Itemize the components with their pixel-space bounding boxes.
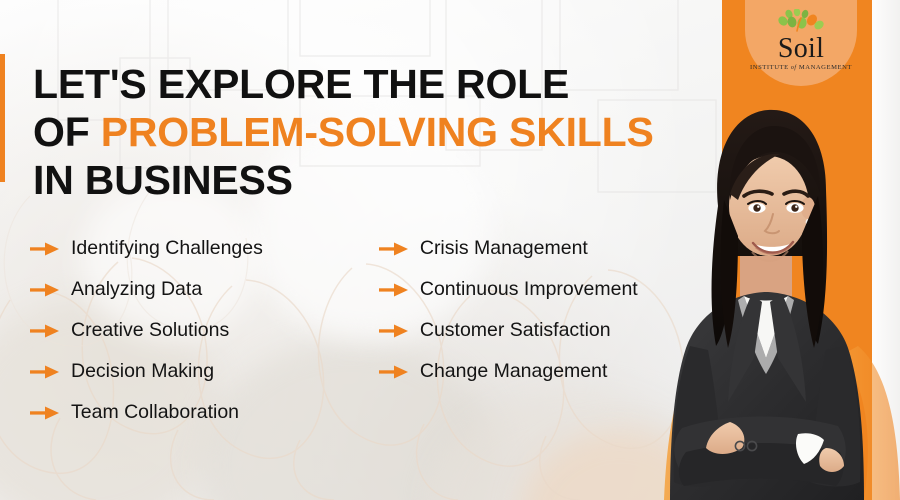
logo-tagline: INSTITUTE of MANAGEMENT <box>750 63 852 73</box>
arrow-right-icon <box>379 242 408 256</box>
list-item-label: Decision Making <box>71 361 214 382</box>
benefits-list: Identifying Challenges Analyzing Data Cr… <box>30 228 690 433</box>
list-item: Identifying Challenges <box>30 228 351 269</box>
left-accent-bar <box>0 54 5 182</box>
arrow-right-icon <box>30 406 59 420</box>
headline-line-2-prefix: OF <box>33 109 101 155</box>
list-item: Team Collaboration <box>30 392 351 433</box>
arrow-right-icon <box>30 365 59 379</box>
benefits-column-left: Identifying Challenges Analyzing Data Cr… <box>30 228 351 433</box>
list-item-label: Team Collaboration <box>71 402 239 423</box>
presenter-photo <box>612 96 900 500</box>
page-title: LET'S EXPLORE THE ROLE OF PROBLEM-SOLVIN… <box>33 60 693 204</box>
arrow-right-icon <box>30 324 59 338</box>
arrow-right-icon <box>30 242 59 256</box>
promo-banner: LET'S EXPLORE THE ROLE OF PROBLEM-SOLVIN… <box>0 0 900 500</box>
headline-line-3: IN BUSINESS <box>33 156 693 204</box>
list-item-label: Creative Solutions <box>71 320 229 341</box>
headline-line-1: LET'S EXPLORE THE ROLE <box>33 60 693 108</box>
arrow-right-icon <box>379 324 408 338</box>
list-item: Decision Making <box>30 351 351 392</box>
businesswoman-illustration <box>612 96 900 500</box>
arrow-right-icon <box>30 283 59 297</box>
list-item-label: Crisis Management <box>420 238 588 259</box>
list-item-label: Analyzing Data <box>71 279 202 300</box>
logo-tagline-before: INSTITUTE <box>750 64 791 71</box>
logo-wordmark: Soil <box>778 34 824 63</box>
list-item-label: Identifying Challenges <box>71 238 263 259</box>
arrow-right-icon <box>379 283 408 297</box>
arrow-right-icon <box>379 365 408 379</box>
list-item-label: Continuous Improvement <box>420 279 638 300</box>
list-item-label: Customer Satisfaction <box>420 320 611 341</box>
headline-accent-text: PROBLEM-SOLVING SKILLS <box>101 109 654 155</box>
sprout-leaves-icon <box>775 9 827 33</box>
headline-line-2: OF PROBLEM-SOLVING SKILLS <box>33 108 693 156</box>
list-item-label: Change Management <box>420 361 608 382</box>
list-item: Creative Solutions <box>30 310 351 351</box>
list-item: Analyzing Data <box>30 269 351 310</box>
logo-tagline-after: MANAGEMENT <box>797 64 852 71</box>
